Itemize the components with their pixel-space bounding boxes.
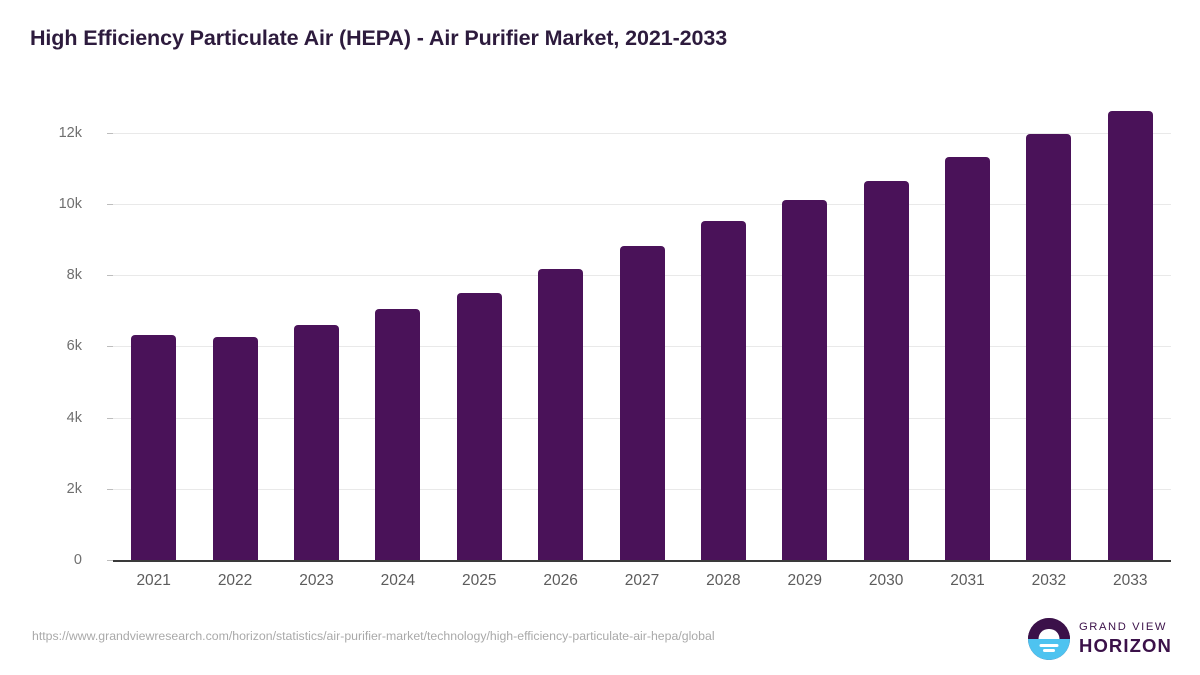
x-axis-label-2027: 2027 (597, 572, 687, 590)
bar-2029[interactable] (782, 200, 827, 560)
bar-2026[interactable] (538, 269, 583, 560)
chart-plot: Market Size (US$M) 02k4k6k8k10k12k 20212… (0, 0, 1200, 675)
y-axis-label: 0 (74, 552, 82, 568)
bar-2025[interactable] (457, 293, 502, 560)
bar-2032[interactable] (1026, 134, 1071, 560)
bar-2028[interactable] (701, 221, 746, 560)
source-url[interactable]: https://www.grandviewresearch.com/horizo… (32, 628, 912, 645)
y-axis-label: 8k (67, 267, 82, 283)
brand-logo: GRAND VIEW HORIZON (1028, 618, 1172, 660)
logo-top-text: GRAND VIEW (1079, 622, 1172, 633)
y-axis-label: 10k (59, 196, 82, 212)
bar-2021[interactable] (131, 335, 176, 560)
x-axis-label-2032: 2032 (1004, 572, 1094, 590)
x-axis-label-2021: 2021 (109, 572, 199, 590)
x-axis-label-2031: 2031 (923, 572, 1013, 590)
x-axis-label-2025: 2025 (434, 572, 524, 590)
x-axis-label-2028: 2028 (678, 572, 768, 590)
x-axis-label-2023: 2023 (271, 572, 361, 590)
x-axis-label-2030: 2030 (841, 572, 931, 590)
y-axis-label: 6k (67, 338, 82, 354)
logo-bottom-text: HORIZON (1079, 637, 1172, 656)
x-axis-label-2033: 2033 (1085, 572, 1175, 590)
y-axis-label: 2k (67, 481, 82, 497)
x-axis-label-2026: 2026 (516, 572, 606, 590)
chart-card: High Efficiency Particulate Air (HEPA) -… (0, 0, 1200, 675)
x-axis-label-2029: 2029 (760, 572, 850, 590)
bar-2030[interactable] (864, 181, 909, 560)
bar-series (113, 100, 1171, 560)
x-axis-line (113, 560, 1171, 562)
bar-2031[interactable] (945, 157, 990, 560)
y-axis-label: 4k (67, 410, 82, 426)
bar-2023[interactable] (294, 325, 339, 560)
x-axis-label-2022: 2022 (190, 572, 280, 590)
horizon-sun-logo-icon (1028, 618, 1070, 660)
y-axis-label: 12k (59, 125, 82, 141)
bar-2024[interactable] (375, 309, 420, 560)
x-axis-label-2024: 2024 (353, 572, 443, 590)
bar-2033[interactable] (1108, 111, 1153, 560)
bar-2027[interactable] (620, 246, 665, 560)
bar-2022[interactable] (213, 337, 258, 560)
